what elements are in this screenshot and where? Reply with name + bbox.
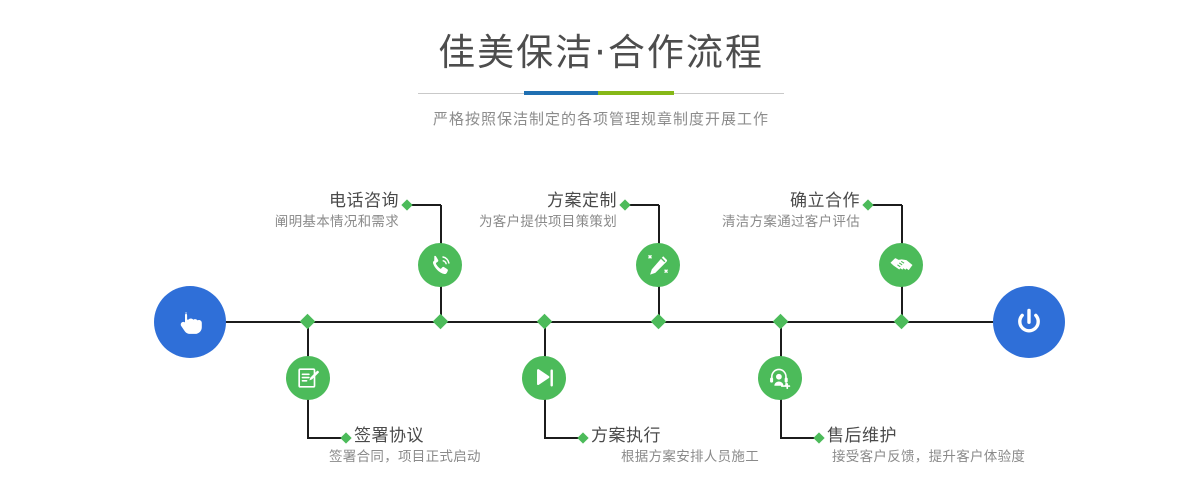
step-title-6: 售后维护	[827, 425, 1107, 447]
step-text-4: 方案执行 根据方案安排人员施工	[591, 425, 851, 467]
step-desc-6: 接受客户反馈，提升客户体验度	[832, 447, 1107, 467]
step-title-2: 签署协议	[354, 425, 614, 447]
step-desc-4: 根据方案安排人员施工	[621, 447, 851, 467]
step-icon-1[interactable]	[418, 243, 462, 287]
step-title-5: 确立合作	[633, 190, 860, 212]
axis-marker-6	[773, 314, 789, 330]
customer-support-icon	[767, 365, 793, 391]
step-desc-1: 阐明基本情况和需求	[173, 212, 399, 232]
step-label-marker-3	[619, 199, 630, 210]
step-text-1: 电话咨询 阐明基本情况和需求	[173, 190, 399, 232]
axis-marker-4	[537, 314, 553, 330]
axis-marker-2	[300, 314, 316, 330]
pencil-edit-icon	[645, 252, 671, 278]
step-text-5: 确立合作 清洁方案通过客户评估	[633, 190, 860, 232]
axis-marker-3	[651, 314, 667, 330]
handshake-icon	[888, 252, 915, 279]
step-icon-4[interactable]	[522, 356, 566, 400]
step-text-2: 签署协议 签署合同，项目正式启动	[354, 425, 614, 467]
phone-call-icon	[427, 252, 454, 279]
pointing-hand-icon	[170, 302, 210, 342]
axis-marker-5	[894, 314, 910, 330]
step-icon-3[interactable]	[636, 243, 680, 287]
document-edit-icon	[295, 365, 321, 391]
timeline-start-endpoint	[154, 286, 226, 358]
step-title-1: 电话咨询	[173, 190, 399, 212]
axis-marker-1	[433, 314, 449, 330]
power-icon	[1009, 302, 1049, 342]
step-desc-5: 清洁方案通过客户评估	[633, 212, 860, 232]
step-icon-6[interactable]	[758, 356, 802, 400]
step-text-3: 方案定制 为客户提供项目策策划	[390, 190, 617, 232]
process-timeline: 电话咨询 阐明基本情况和需求 签署协议 签署合同，项目正式启动	[0, 0, 1202, 502]
step-title-4: 方案执行	[591, 425, 851, 447]
flow-diagram-page: 佳美保洁·合作流程 严格按照保洁制定的各项管理规章制度开展工作	[0, 0, 1202, 502]
step-icon-5[interactable]	[879, 243, 923, 287]
step-icon-2[interactable]	[286, 356, 330, 400]
step-label-marker-5	[862, 199, 873, 210]
step-connector-horizontal-5	[871, 204, 902, 206]
step-label-marker-2	[340, 432, 351, 443]
step-title-3: 方案定制	[390, 190, 617, 212]
step-desc-2: 签署合同，项目正式启动	[329, 447, 614, 467]
step-text-6: 售后维护 接受客户反馈，提升客户体验度	[827, 425, 1107, 467]
timeline-end-endpoint	[993, 286, 1065, 358]
step-desc-3: 为客户提供项目策策划	[390, 212, 617, 232]
play-next-icon	[531, 365, 557, 391]
